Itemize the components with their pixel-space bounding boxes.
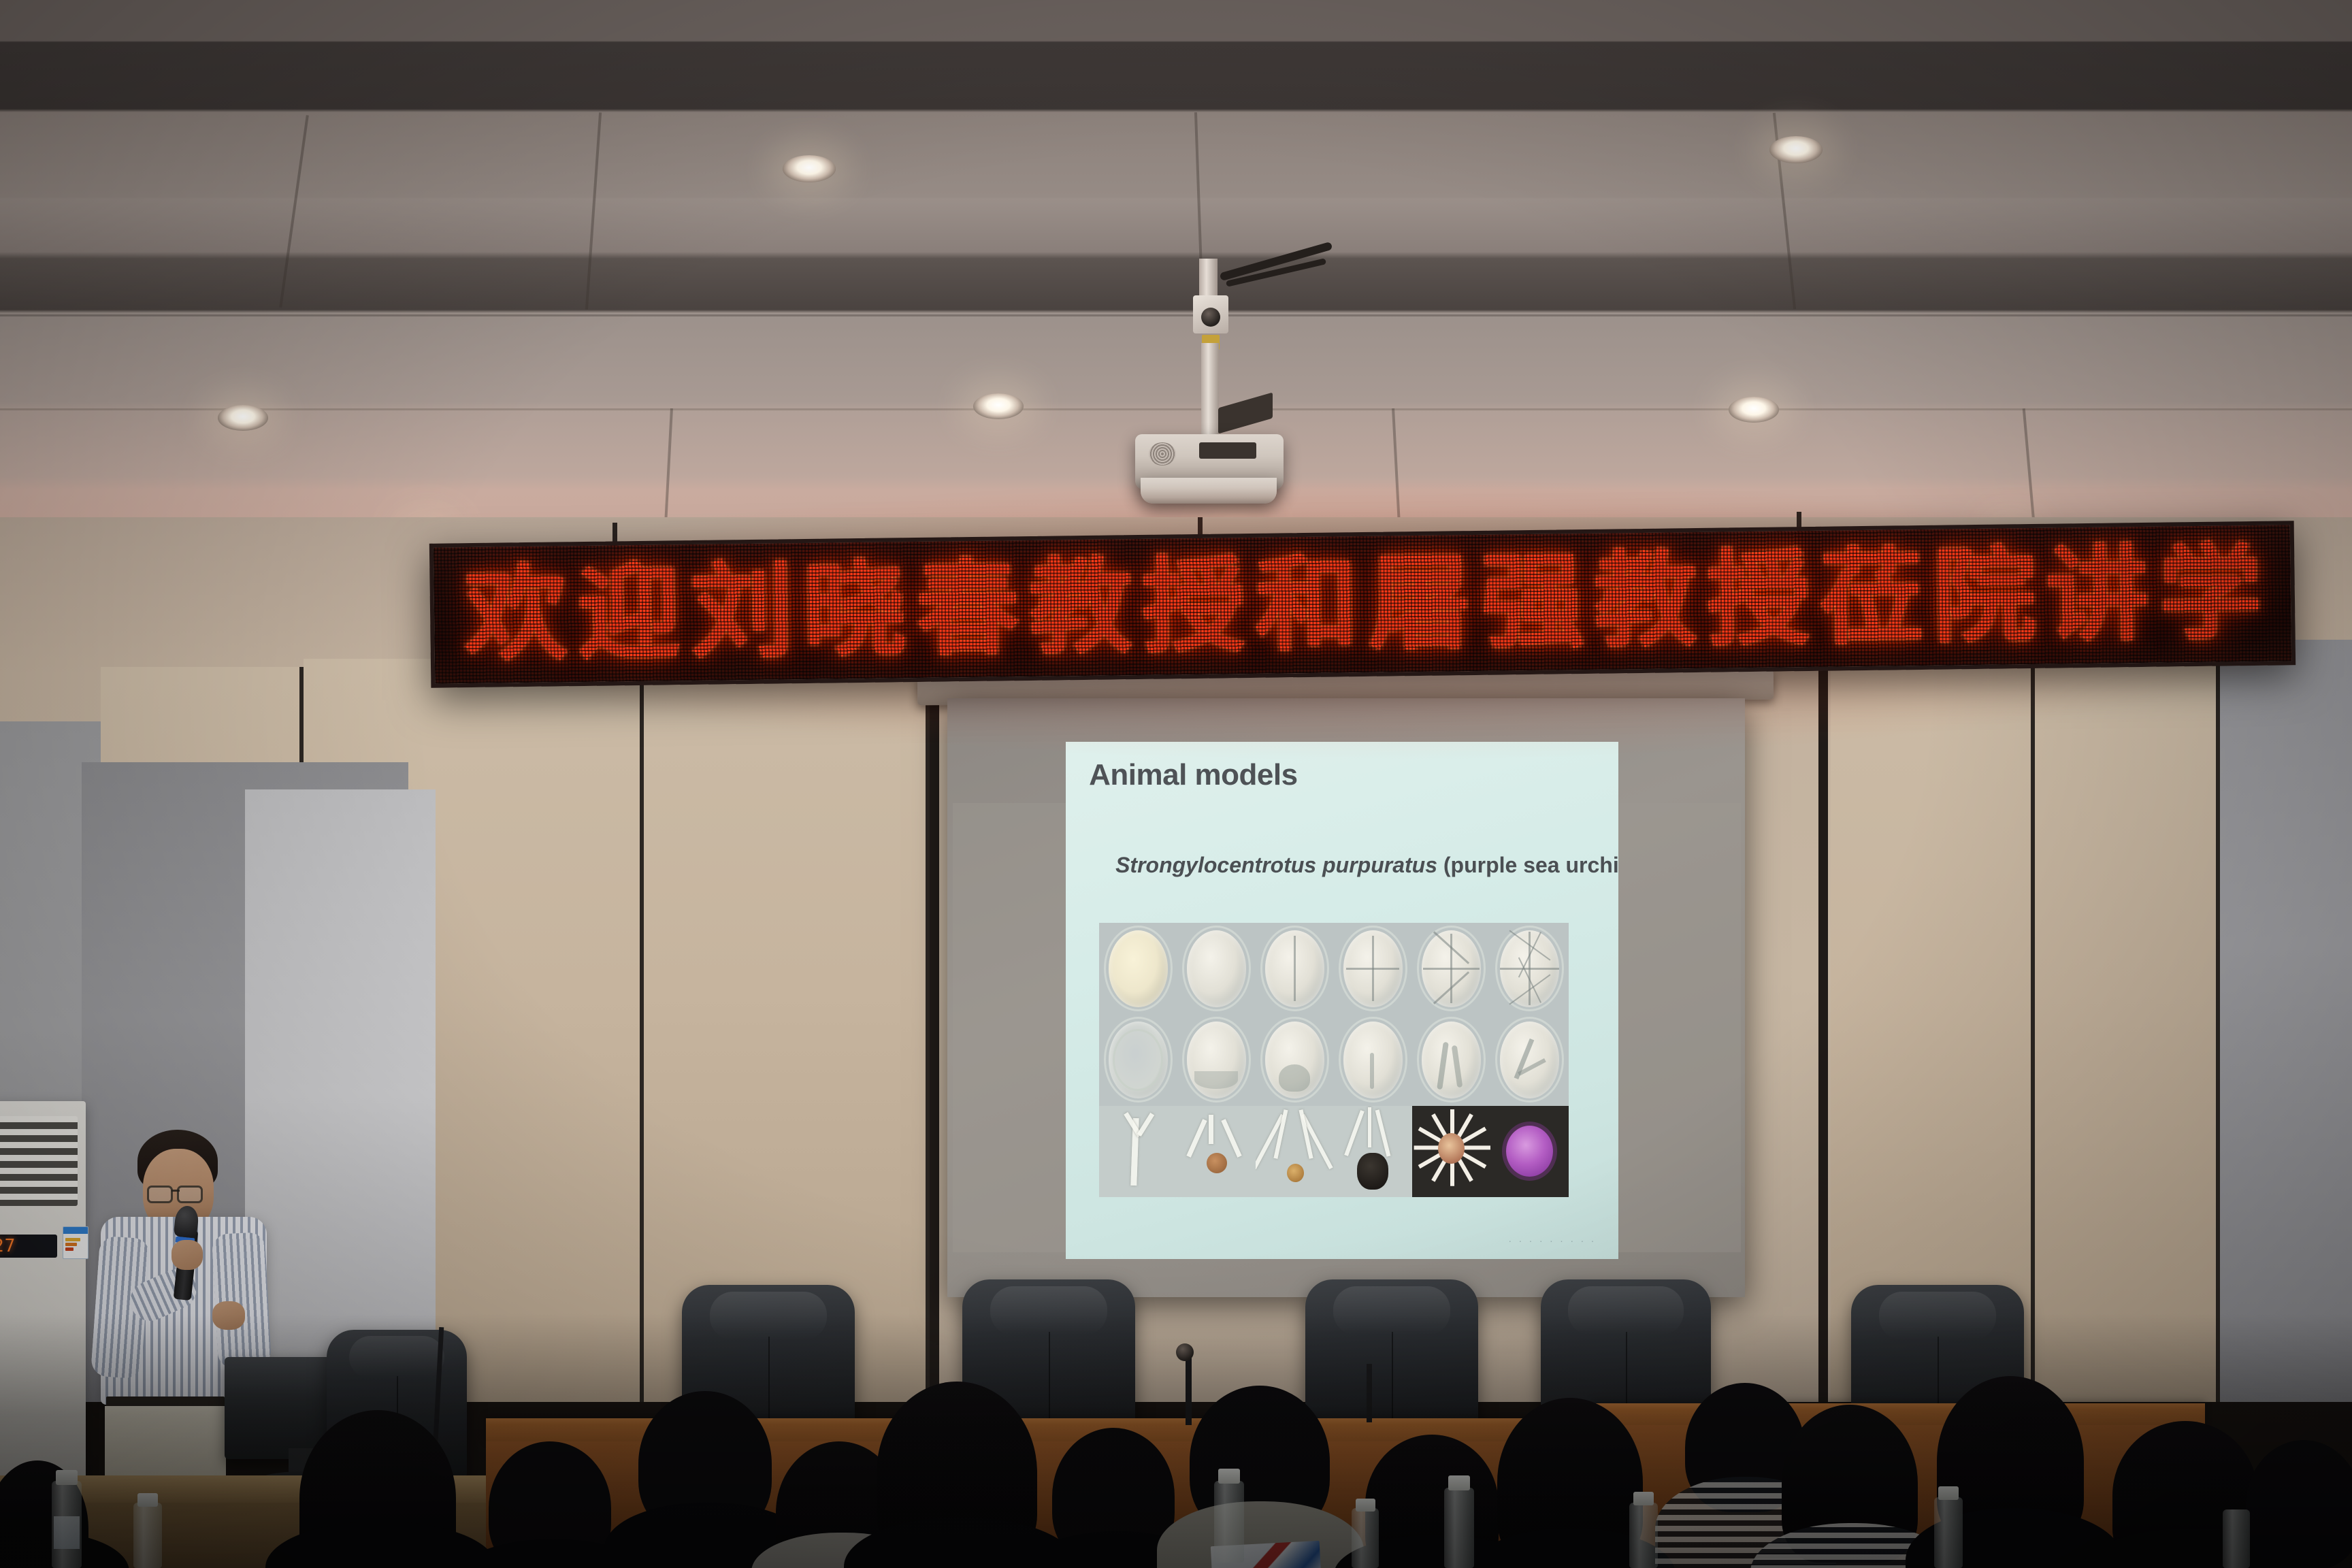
- slide-caption: · · · · · · · · ·: [1508, 1235, 1596, 1247]
- embryo-stage: [1412, 923, 1490, 1014]
- presentation-slide: Animal models Strongylocentrotus purpura…: [1066, 742, 1618, 1259]
- ceiling-downlight: [1769, 136, 1823, 163]
- water-bottle: [1629, 1503, 1658, 1568]
- ceiling-seam: [585, 112, 602, 310]
- projector-port-panel: [1199, 442, 1256, 459]
- water-bottle: [1352, 1508, 1379, 1568]
- water-bottle: [133, 1503, 162, 1568]
- table-microphone: [1186, 1354, 1192, 1425]
- water-bottle: [1214, 1481, 1244, 1563]
- table-microphone-head: [1176, 1343, 1194, 1361]
- water-bottle-cap: [1633, 1492, 1654, 1505]
- ac-temperature-display[interactable]: 27: [0, 1235, 57, 1258]
- projector-drop-pole: [1201, 343, 1219, 440]
- water-bottle-cap: [1938, 1486, 1959, 1500]
- water-bottle: [52, 1481, 82, 1568]
- water-bottle: [1444, 1488, 1474, 1568]
- slide-common-name: (purple sea urchin 海胆): [1437, 853, 1618, 877]
- led-banner-text: 欢迎刘晓春教授和屠强教授莅院讲学: [453, 542, 2272, 668]
- slide-species-name: Strongylocentrotus purpuratus: [1115, 853, 1437, 877]
- presenter-hand-mic: [171, 1240, 203, 1270]
- presenter-hand-gesture: [212, 1301, 245, 1330]
- embryo-stage: [1099, 1014, 1177, 1105]
- table-microphone: [1367, 1364, 1372, 1422]
- embryo-stage: [1256, 923, 1334, 1014]
- wall-panel: [2035, 653, 2219, 1402]
- conference-table-top-right: [1592, 1403, 2205, 1428]
- water-bottle: [2223, 1509, 2250, 1568]
- slide-title: Animal models: [1089, 758, 1297, 792]
- ceiling-seam: [279, 115, 309, 308]
- embryo-stage: [1490, 1014, 1569, 1105]
- ceiling-downlight: [1729, 397, 1779, 423]
- embryo-stage: [1256, 1014, 1334, 1105]
- screen-frame-post-right: [1818, 661, 1828, 1402]
- larva-stage: [1099, 1106, 1177, 1197]
- ac-temperature-value: 27: [0, 1236, 16, 1256]
- embryo-stage: [1490, 923, 1569, 1014]
- ceiling-beam: [0, 314, 2352, 316]
- wall-section-right: [2220, 640, 2352, 1402]
- water-bottle-cap: [56, 1470, 78, 1485]
- embryo-stage: [1334, 1014, 1412, 1105]
- embryo-stage: [1412, 1014, 1490, 1105]
- air-conditioner: 27: [0, 1101, 86, 1523]
- larva-stage: [1334, 1106, 1412, 1197]
- ceiling-downlight: [973, 393, 1024, 419]
- water-bottle: [1934, 1497, 1963, 1568]
- juvenile-urchin: [1412, 1106, 1490, 1197]
- led-welcome-banner: 欢迎刘晓春教授和屠强教授莅院讲学: [429, 521, 2296, 687]
- eyeglasses-lens-left: [147, 1186, 173, 1203]
- screen-edge-right: [1618, 803, 1741, 1252]
- ceiling-downlight: [218, 405, 268, 431]
- energy-label-sticker: [63, 1226, 88, 1259]
- audience-member: [2246, 1440, 2352, 1568]
- larva-stage: [1177, 1106, 1256, 1197]
- screen-frame-post-left: [930, 667, 939, 1402]
- presenter-arm-right: [212, 1232, 272, 1369]
- ceiling-beam: [0, 408, 2352, 410]
- water-bottle-cap: [1218, 1469, 1240, 1484]
- larva-stage: [1256, 1106, 1334, 1197]
- screen-edge-left: [953, 803, 1066, 1252]
- embryo-stage: [1099, 923, 1177, 1014]
- projector-vent: [1149, 442, 1176, 465]
- embryo-development-figure: [1099, 923, 1569, 1197]
- eyeglasses-lens-right: [177, 1186, 203, 1203]
- slide-subtitle: Strongylocentrotus purpuratus (purple se…: [1115, 848, 1618, 879]
- eyeglasses-bridge: [171, 1190, 180, 1192]
- lecture-hall-photo: Animal models Strongylocentrotus purpura…: [0, 0, 2352, 1568]
- adult-urchin: [1490, 1106, 1569, 1197]
- water-bottle-cap: [1356, 1499, 1375, 1512]
- water-bottle-cap: [137, 1493, 158, 1507]
- water-bottle-cap: [1448, 1475, 1470, 1490]
- ceiling-downlight: [783, 155, 836, 182]
- embryo-stage: [1334, 923, 1412, 1014]
- projector-swivel-joint: [1201, 308, 1220, 327]
- embryo-stage: [1177, 1014, 1256, 1105]
- embryo-stage: [1177, 923, 1256, 1014]
- ac-vent-grille: [0, 1116, 78, 1206]
- projector-lower-shell: [1141, 478, 1277, 504]
